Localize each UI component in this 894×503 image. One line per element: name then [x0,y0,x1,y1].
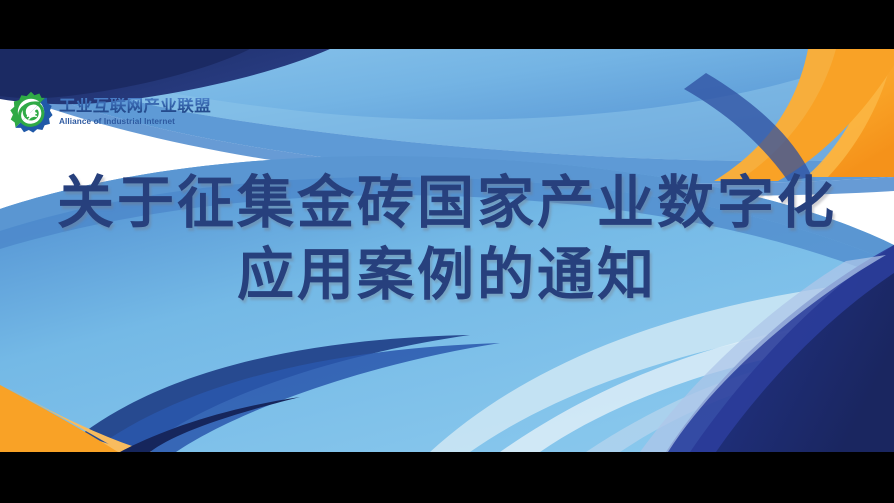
poster-title: 关于征集金砖国家产业数字化 应用案例的通知 [0,167,894,311]
letterbox-top [0,0,894,49]
logo-text-group: 工业互联网产业联盟 Alliance of Industrial Interne… [59,98,211,126]
gear-leaf-logo-icon [9,90,53,134]
letterbox-bottom [0,452,894,503]
logo-name-cn: 工业互联网产业联盟 [59,98,211,115]
logo-name-en: Alliance of Industrial Internet [59,118,211,126]
title-line-1: 关于征集金砖国家产业数字化 [0,167,894,239]
poster-slide: 工业互联网产业联盟 Alliance of Industrial Interne… [0,0,894,503]
organization-logo: 工业互联网产业联盟 Alliance of Industrial Interne… [9,90,211,134]
slide-canvas: 工业互联网产业联盟 Alliance of Industrial Interne… [0,49,894,452]
title-line-2: 应用案例的通知 [0,239,894,311]
